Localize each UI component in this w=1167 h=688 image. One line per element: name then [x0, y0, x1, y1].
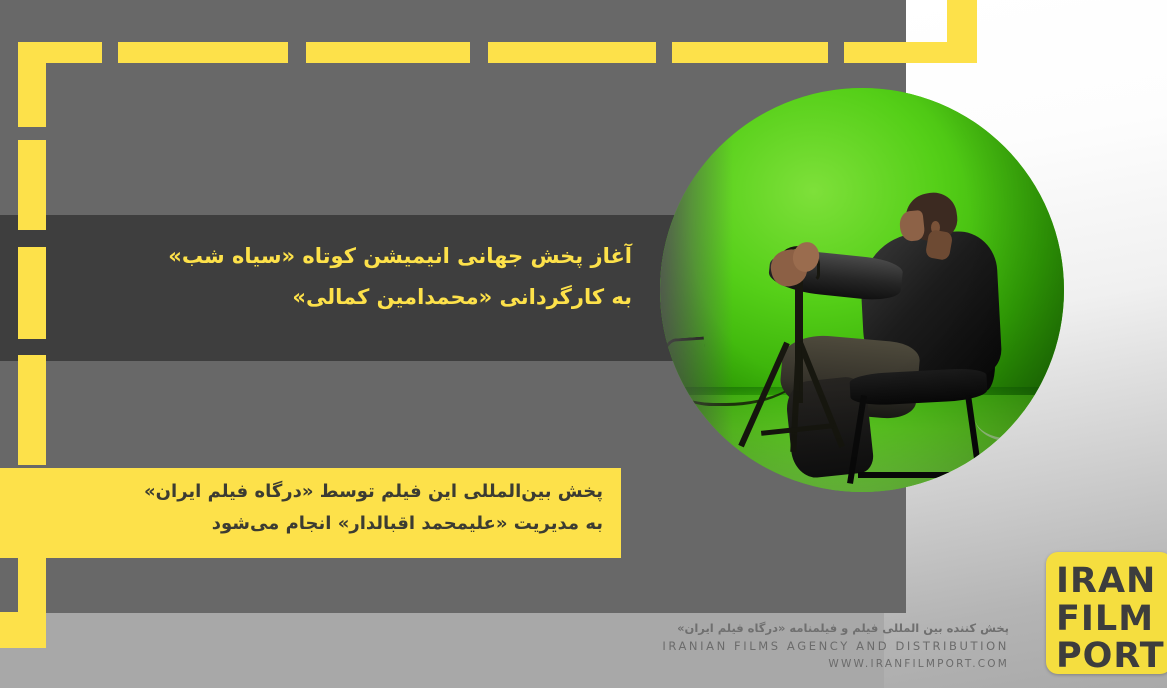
footer-persian: پخش کننده بین المللی فیلم و فیلمنامه «در…	[589, 620, 1009, 637]
circular-photo	[660, 88, 1064, 492]
dash-left-v-1	[18, 42, 46, 127]
dash-top-h-3	[306, 42, 470, 63]
dash-left-v-4	[18, 355, 46, 465]
distribution-banner-text: پخش بین‌المللی این فیلم توسط «درگاه فیلم…	[19, 476, 603, 539]
dash-top-h-4	[488, 42, 656, 63]
dash-left-v-2	[18, 140, 46, 230]
headline: آغاز پخش جهانی انیمیشن کوتاه «سیاه شب» ب…	[0, 236, 632, 318]
logo-line-iran: IRAN	[1056, 564, 1156, 599]
distribution-banner: پخش بین‌المللی این فیلم توسط «درگاه فیلم…	[0, 468, 621, 558]
logo-line-film: FILM	[1056, 602, 1154, 637]
footer: پخش کننده بین المللی فیلم و فیلمنامه «در…	[589, 620, 1009, 672]
dash-top-corner-vertical	[947, 0, 977, 63]
banner-line-2: به مدیریت «علیمحمد اقبالدار» انجام می‌شو…	[212, 513, 603, 534]
iranfilmport-logo[interactable]: IRAN FILM PORT	[1046, 552, 1167, 674]
photo-inner	[660, 88, 1064, 492]
footer-english: IRANIAN FILMS AGENCY AND DISTRIBUTION	[589, 637, 1009, 655]
dash-top-h-1	[40, 42, 102, 63]
headline-line-2: به کارگردانی «محمدامین کمالی»	[0, 277, 632, 318]
banner-line-1: پخش بین‌المللی این فیلم توسط «درگاه فیلم…	[144, 481, 603, 502]
photo-vignette	[660, 88, 1064, 492]
footer-url[interactable]: WWW.IRANFILMPORT.COM	[589, 656, 1009, 673]
headline-line-1: آغاز پخش جهانی انیمیشن کوتاه «سیاه شب»	[168, 244, 632, 268]
dash-left-corner-foot	[0, 612, 46, 648]
poster-canvas: پخش بین‌المللی این فیلم توسط «درگاه فیلم…	[0, 0, 1167, 688]
dash-top-h-2	[118, 42, 288, 63]
logo-line-port: PORT	[1056, 639, 1165, 674]
dash-top-h-5	[672, 42, 828, 63]
